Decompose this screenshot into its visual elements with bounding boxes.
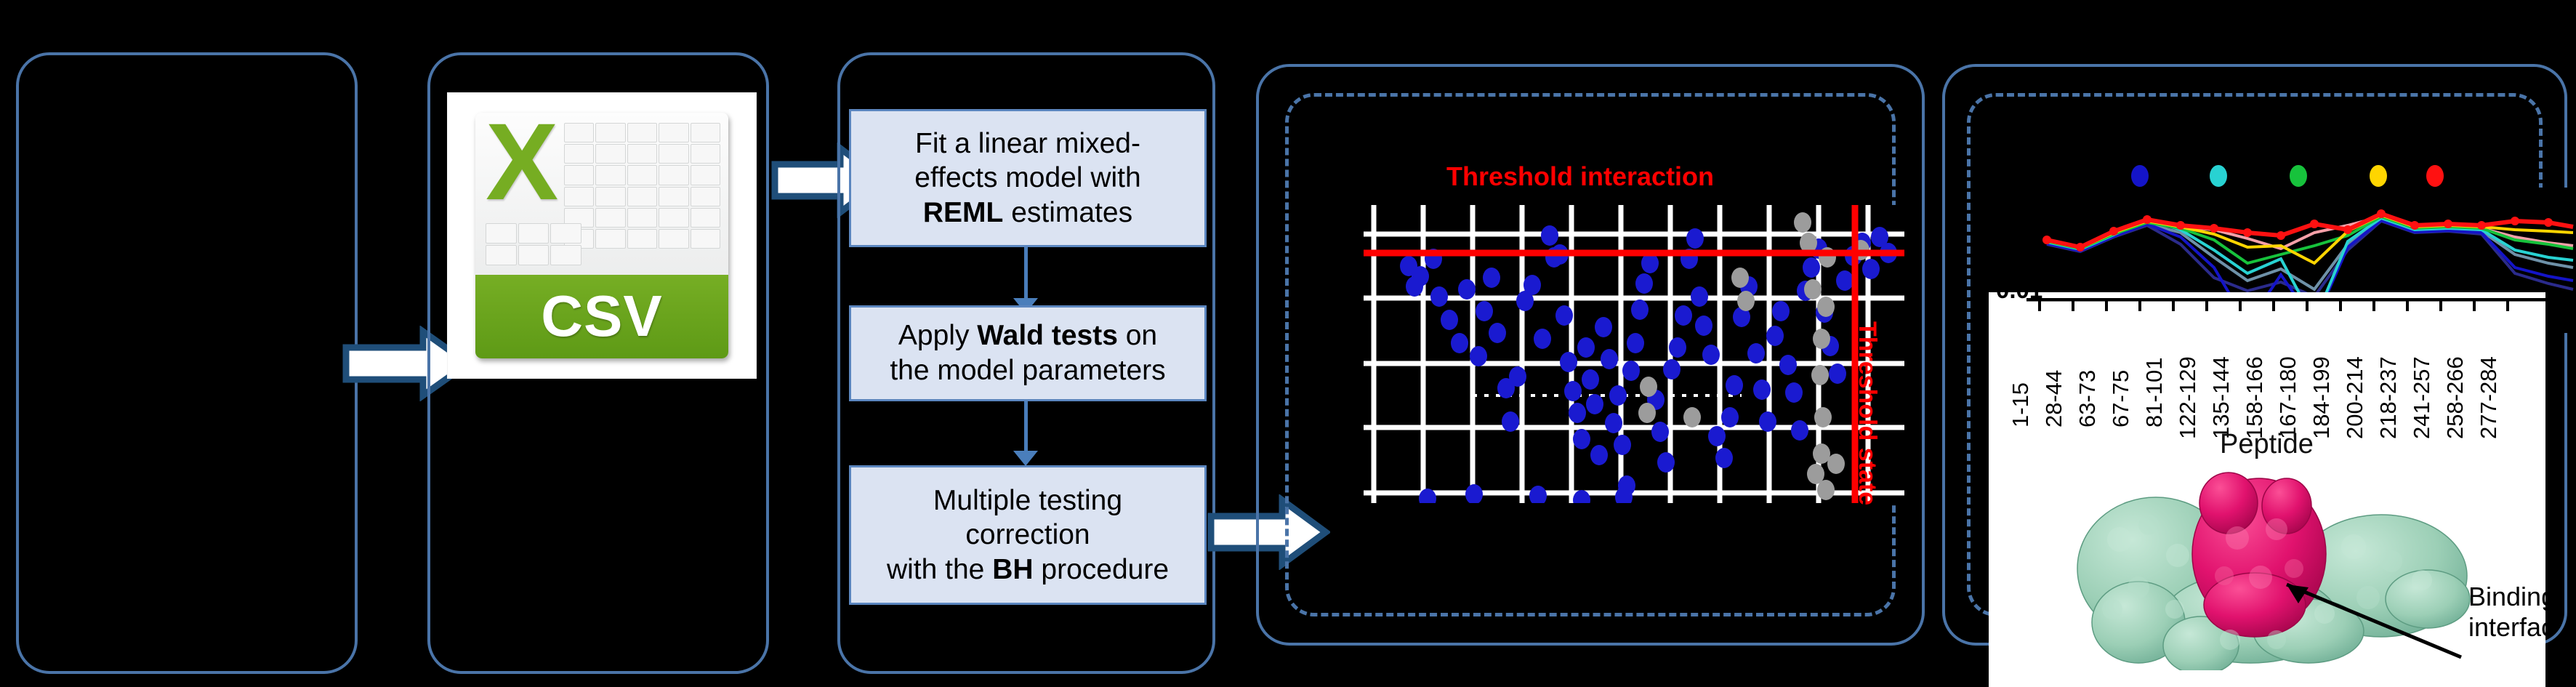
protein-structure-image: [2069, 459, 2476, 670]
peptide-tick-label: 67-75: [2108, 370, 2134, 427]
binding-interface-line2: interface: [2468, 612, 2545, 643]
step-reml-line1: Fit a linear mixed-: [915, 128, 1140, 159]
volcano-scatter-plot: [1364, 205, 1904, 503]
csv-grid-cell: [595, 123, 626, 142]
csv-grid-cell: [518, 223, 550, 244]
csv-grid-cell: [659, 229, 689, 249]
csv-grid-cell: [691, 144, 721, 164]
peptide-tick-label: 135-144: [2208, 356, 2234, 439]
csv-grid-cell: [659, 144, 689, 164]
csv-grid-cell: [564, 144, 595, 164]
step-connector-1: [1024, 247, 1028, 301]
csv-grid-cell: [691, 187, 721, 206]
peptide-tick-label: 28-44: [2041, 370, 2067, 427]
csv-grid-cell: [627, 229, 658, 249]
step-bh-line3a: with the: [887, 554, 992, 585]
step-reml-line2: effects model with: [914, 162, 1140, 193]
peptide-tick-label: 167-180: [2275, 356, 2301, 439]
peptide-tick-label: 258-266: [2442, 356, 2468, 439]
csv-grid-cell: [691, 165, 721, 185]
empty-stage-panel: [16, 52, 358, 674]
step-wald-keyword: Wald tests: [977, 320, 1118, 351]
step-connector-2-arrowhead: [1013, 451, 1038, 466]
peptide-tick-label: 277-284: [2476, 356, 2502, 439]
csv-grid-cell: [564, 165, 595, 185]
csv-grid-cell: [691, 229, 721, 249]
csv-grid-cell: [595, 229, 626, 249]
threshold-state-label: Threshold state: [1853, 321, 1881, 505]
peptide-tick-label: 63-73: [2074, 370, 2101, 427]
step-wald-line1a: Apply: [898, 320, 977, 351]
peptide-tick-label: 184-199: [2309, 356, 2335, 439]
step-bh-line3b: procedure: [1034, 554, 1169, 585]
csv-grid-cell: [486, 245, 517, 265]
step-bh-line2: correction: [965, 519, 1090, 550]
csv-grid-cell: [595, 144, 626, 164]
step-wald-line2: the model parameters: [890, 355, 1165, 386]
csv-extension-label: CSV: [541, 283, 663, 350]
peptide-tick-label: 158-166: [2242, 356, 2268, 439]
csv-grid-cell: [627, 187, 658, 206]
step-bh-box[interactable]: Multiple testing correction with the BH …: [849, 465, 1207, 605]
step-wald-line1b: on: [1118, 320, 1157, 351]
csv-grid-cell: [564, 123, 595, 142]
step-reml-keyword: REML: [923, 197, 1004, 228]
step-bh-keyword: BH: [992, 554, 1033, 585]
csv-grid-cell: [627, 208, 658, 228]
csv-grid-cell: [691, 123, 721, 142]
peptide-tick-label: 241-257: [2409, 356, 2435, 439]
peptide-tick-label: 200-214: [2342, 356, 2368, 439]
peptide-axis-title: Peptide: [2220, 429, 2314, 460]
binding-interface-label: Binding interface: [2468, 582, 2545, 643]
step-connector-2: [1024, 401, 1028, 454]
peptide-tick-label: 218-237: [2375, 356, 2402, 439]
csv-grid-cell: [550, 245, 581, 265]
csv-grid-cell: [659, 187, 689, 206]
peptide-structure-figure: 0.01 1-15 28-44 63-73 67-75 81-101 122-1…: [1989, 292, 2545, 687]
peptide-tick-label: 81-101: [2141, 357, 2168, 427]
peptide-axis: [2026, 298, 2545, 313]
csv-grid-cell: [486, 223, 517, 244]
csv-grid-cell: [659, 208, 689, 228]
step-reml-line3: estimates: [1003, 197, 1132, 228]
peptide-tick-label: 1-15: [2008, 382, 2034, 427]
csv-grid-cell: [627, 144, 658, 164]
csv-grid-cell: [691, 208, 721, 228]
binding-interface-line1: Binding: [2468, 582, 2545, 612]
excel-x-letter: X: [486, 113, 558, 215]
csv-grid-cell: [518, 245, 550, 265]
csv-grid-cell: [550, 223, 581, 244]
csv-grid-cell: [659, 123, 689, 142]
line-chart-legend: [2130, 161, 2471, 190]
csv-grid-cell: [595, 187, 626, 206]
csv-grid-cell: [595, 165, 626, 185]
peptide-tick-label: 122-129: [2175, 356, 2201, 439]
threshold-interaction-label: Threshold interaction: [1446, 161, 1714, 192]
csv-grid-cell: [659, 165, 689, 185]
csv-grid-cell: [627, 165, 658, 185]
step-wald-box[interactable]: Apply Wald tests on the model parameters: [849, 305, 1207, 401]
csv-grid-cell: [595, 208, 626, 228]
csv-grid-cell: [627, 123, 658, 142]
step-reml-box[interactable]: Fit a linear mixed- effects model with R…: [849, 109, 1207, 247]
csv-grid-cell: [564, 187, 595, 206]
step-bh-line1: Multiple testing: [933, 485, 1122, 516]
csv-file-icon: X CSV: [448, 93, 756, 378]
